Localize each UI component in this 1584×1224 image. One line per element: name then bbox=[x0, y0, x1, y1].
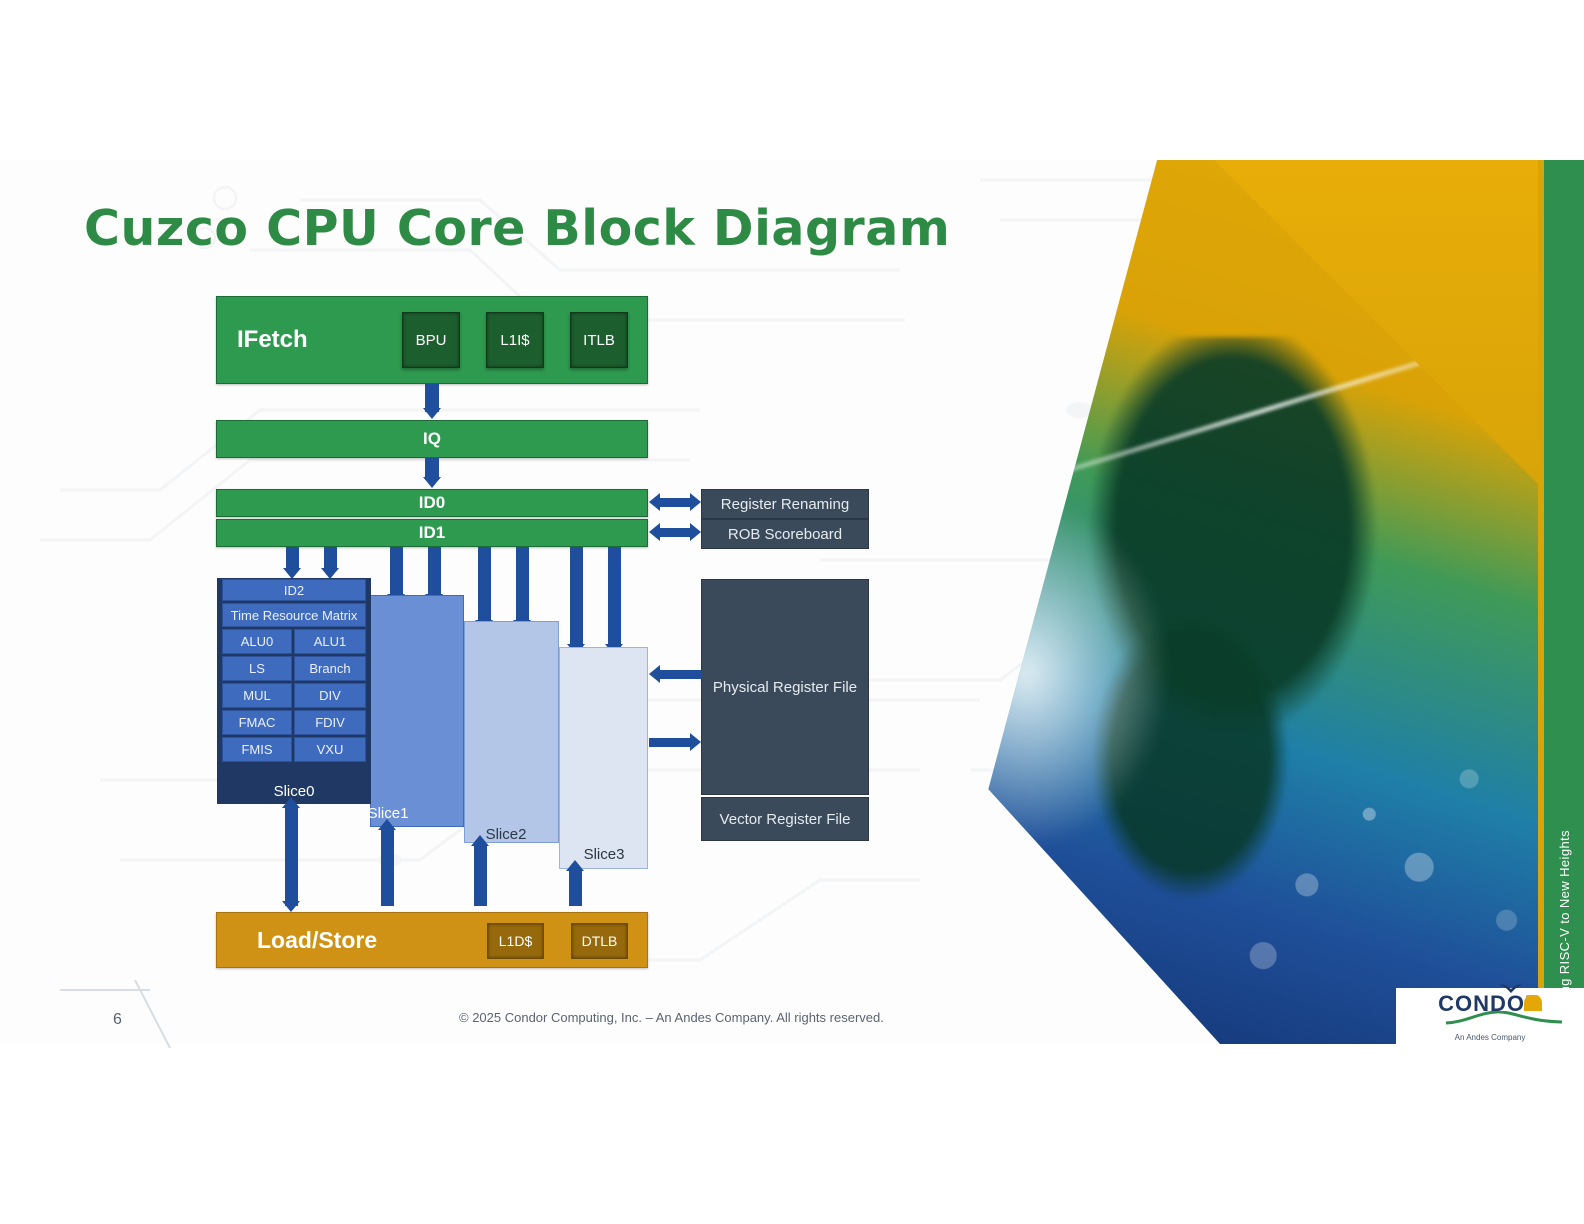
arrow-prf-to-slice-head bbox=[649, 665, 660, 683]
condor-logo: CONDOR An Andes Company bbox=[1396, 988, 1584, 1044]
arrow-id0-renaming-shaft bbox=[660, 498, 692, 507]
block-slice2[interactable] bbox=[464, 621, 559, 843]
arrow-slice-to-prf-head bbox=[690, 733, 701, 751]
arrow-slice-to-prf-shaft bbox=[649, 738, 691, 747]
block-mul-label: MUL bbox=[243, 688, 270, 703]
block-slice3[interactable] bbox=[559, 647, 648, 869]
arrow-id1-rob-head-right bbox=[690, 523, 701, 541]
arrow-id1-rob-shaft bbox=[660, 528, 692, 537]
arrow-slice3-loadstore-head bbox=[566, 860, 584, 871]
dispatch-arrow-7-shaft bbox=[608, 547, 621, 647]
block-fdiv-label: FDIV bbox=[315, 715, 345, 730]
block-l1d-cache-label: L1D$ bbox=[499, 933, 532, 949]
block-vector-register-file[interactable]: Vector Register File bbox=[701, 797, 869, 841]
arrow-iq-to-id0-head bbox=[423, 477, 441, 488]
condor-logo-wordmark: CONDOR bbox=[1438, 991, 1542, 1017]
page-number: 6 bbox=[113, 1011, 122, 1029]
block-register-renaming[interactable]: Register Renaming bbox=[701, 489, 869, 519]
dispatch-arrow-2-shaft bbox=[390, 547, 403, 597]
condor-mountain-icon bbox=[1444, 1011, 1564, 1025]
block-fmac[interactable]: FMAC bbox=[222, 710, 292, 735]
condor-logo-tagline: An Andes Company bbox=[1455, 1033, 1526, 1042]
block-time-resource-matrix-label: Time Resource Matrix bbox=[231, 608, 358, 623]
block-l1i-cache-label: L1I$ bbox=[500, 332, 529, 349]
block-vxu-label: VXU bbox=[317, 742, 344, 757]
block-vxu[interactable]: VXU bbox=[294, 737, 366, 762]
block-fmis[interactable]: FMIS bbox=[222, 737, 292, 762]
block-alu1-label: ALU1 bbox=[314, 634, 347, 649]
block-fdiv[interactable]: FDIV bbox=[294, 710, 366, 735]
arrow-ifetch-to-iq-head bbox=[423, 408, 441, 419]
condor-bird-icon bbox=[1498, 982, 1524, 994]
block-itlb-label: ITLB bbox=[583, 332, 615, 349]
arrow-id0-renaming-head-left bbox=[649, 493, 660, 511]
block-fmac-label: FMAC bbox=[239, 715, 276, 730]
block-register-renaming-label: Register Renaming bbox=[721, 496, 849, 513]
block-alu0-label: ALU0 bbox=[241, 634, 274, 649]
block-id0[interactable]: ID0 bbox=[216, 489, 648, 517]
block-rob-scoreboard-label: ROB Scoreboard bbox=[728, 526, 842, 543]
slide-root: Taking RISC-V to New Heights Cuzco CPU C… bbox=[0, 0, 1584, 1224]
block-bpu-label: BPU bbox=[416, 332, 447, 349]
arrow-slice3-loadstore-shaft bbox=[569, 869, 582, 906]
block-dtlb[interactable]: DTLB bbox=[571, 923, 628, 959]
block-dtlb-label: DTLB bbox=[582, 933, 618, 949]
block-id2-label: ID2 bbox=[284, 583, 304, 598]
block-div-label: DIV bbox=[319, 688, 341, 703]
block-l1i-cache[interactable]: L1I$ bbox=[486, 312, 544, 368]
block-ls-label: LS bbox=[249, 661, 265, 676]
block-physical-register-file-label: Physical Register File bbox=[713, 679, 857, 696]
block-ifetch-label: IFetch bbox=[237, 326, 308, 354]
block-iq-label: IQ bbox=[423, 429, 441, 449]
block-rob-scoreboard[interactable]: ROB Scoreboard bbox=[701, 519, 869, 549]
arrow-slice2-loadstore-head bbox=[471, 835, 489, 846]
block-id0-label: ID0 bbox=[419, 493, 445, 513]
dispatch-arrow-6-shaft bbox=[570, 547, 583, 647]
block-iq[interactable]: IQ bbox=[216, 420, 648, 458]
block-id1[interactable]: ID1 bbox=[216, 519, 648, 547]
block-id2[interactable]: ID2 bbox=[222, 579, 366, 601]
block-load-store-label: Load/Store bbox=[257, 927, 377, 954]
arrow-slice1-loadstore-shaft bbox=[381, 828, 394, 906]
arrow-id1-rob-head-left bbox=[649, 523, 660, 541]
arrow-slice0-loadstore-head-up bbox=[282, 797, 300, 808]
block-time-resource-matrix[interactable]: Time Resource Matrix bbox=[222, 603, 366, 627]
dispatch-arrow-5-shaft bbox=[516, 547, 529, 623]
block-physical-register-file[interactable]: Physical Register File bbox=[701, 579, 869, 795]
block-alu1[interactable]: ALU1 bbox=[294, 629, 366, 654]
arrow-prf-to-slice-shaft bbox=[660, 670, 702, 679]
arrow-slice2-loadstore-shaft bbox=[474, 844, 487, 906]
cpu-block-diagram: IFetch BPU L1I$ ITLB IQ ID0 ID1 Register… bbox=[0, 0, 1584, 1224]
block-vector-register-file-label: Vector Register File bbox=[720, 811, 851, 828]
block-div[interactable]: DIV bbox=[294, 683, 366, 708]
block-l1d-cache[interactable]: L1D$ bbox=[487, 923, 544, 959]
arrow-slice1-loadstore-head bbox=[378, 819, 396, 830]
condor-arch-icon bbox=[1522, 995, 1544, 1011]
block-id1-label: ID1 bbox=[419, 523, 445, 543]
block-alu0[interactable]: ALU0 bbox=[222, 629, 292, 654]
arrow-slice0-loadstore-head-down bbox=[282, 901, 300, 912]
block-branch-label: Branch bbox=[309, 661, 350, 676]
block-branch[interactable]: Branch bbox=[294, 656, 366, 681]
copyright-notice: © 2025 Condor Computing, Inc. – An Andes… bbox=[459, 1010, 884, 1025]
arrow-slice0-loadstore-shaft bbox=[285, 806, 298, 906]
dispatch-arrow-4-shaft bbox=[478, 547, 491, 623]
dispatch-arrow-3-shaft bbox=[428, 547, 441, 597]
block-ls[interactable]: LS bbox=[222, 656, 292, 681]
arrow-id0-renaming-head-right bbox=[690, 493, 701, 511]
block-mul[interactable]: MUL bbox=[222, 683, 292, 708]
block-fmis-label: FMIS bbox=[241, 742, 272, 757]
block-itlb[interactable]: ITLB bbox=[570, 312, 628, 368]
block-bpu[interactable]: BPU bbox=[402, 312, 460, 368]
block-slice1[interactable] bbox=[370, 595, 464, 827]
